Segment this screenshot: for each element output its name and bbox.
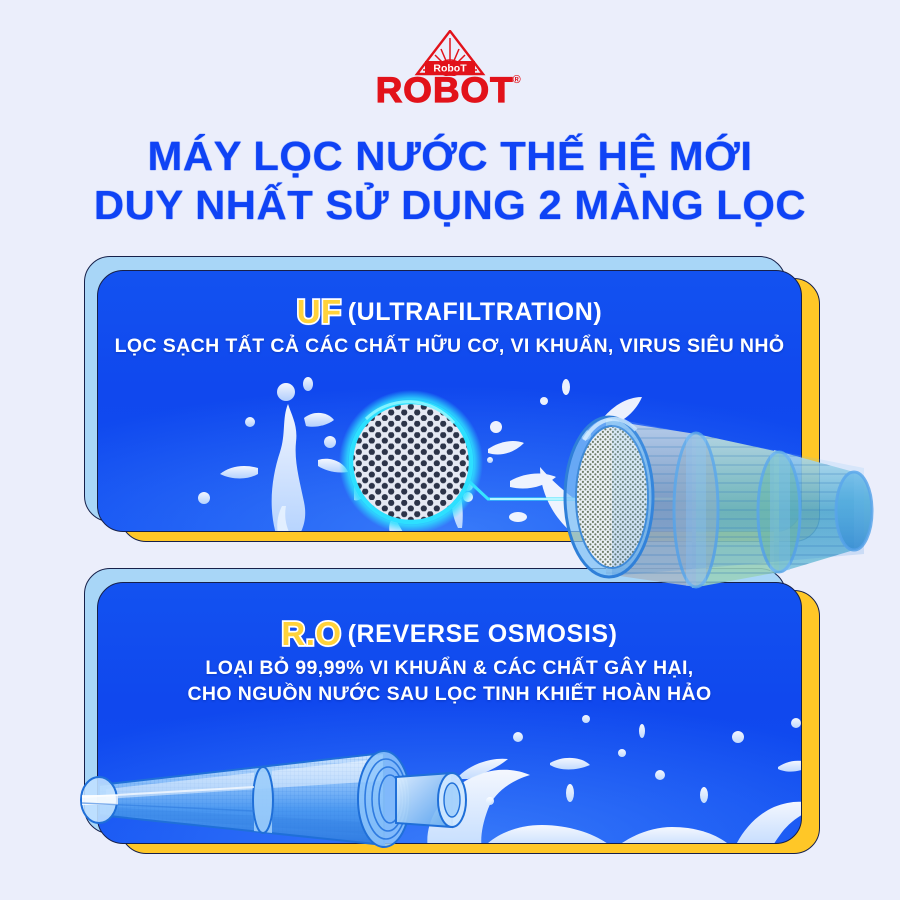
uf-tag-sub-label: (ULTRAFILTRATION) — [348, 298, 603, 326]
brand-wordmark: ROBOT ® — [379, 73, 521, 108]
headline-line-1: MÁY LỌC NƯỚC THẾ HỆ MỚI — [0, 132, 900, 181]
uf-tag-label: UF — [297, 293, 342, 330]
uf-description-line-1: LỌC SẠCH TẤT CẢ CÁC CHẤT HỮU CƠ, VI KHUẨ… — [98, 333, 801, 359]
uf-membrane-honeycomb-closeup-icon — [336, 387, 486, 531]
ro-tag-sub-label: (REVERSE OSMOSIS) — [348, 620, 618, 648]
ro-tag-label: R.O — [281, 615, 341, 652]
brand-wordmark-text: ROBOT — [376, 73, 514, 108]
registered-mark: ® — [513, 74, 521, 86]
ro-description-line-1: LOẠI BỎ 99,99% VI KHUẨN & CÁC CHẤT GÂY H… — [98, 655, 801, 681]
page-title: MÁY LỌC NƯỚC THẾ HỆ MỚI DUY NHẤT SỬ DỤNG… — [0, 132, 900, 230]
uf-card[interactable]: UF(ULTRAFILTRATION) LỌC SẠCH TẤT CẢ CÁC … — [84, 256, 824, 546]
uf-hollow-fiber-cartridge-icon — [524, 398, 900, 593]
robot-sunburst-logo-icon: RoboT — [413, 30, 487, 76]
poster-canvas: RoboT ROBOT ® MÁY LỌC NƯỚC THẾ HỆ MỚI DU… — [0, 0, 900, 900]
ro-description-line-2: CHO NGUỒN NƯỚC SAU LỌC TINH KHIẾT HOÀN H… — [98, 681, 801, 707]
uf-heading: UF(ULTRAFILTRATION) — [98, 293, 801, 331]
brand-logo: RoboT ROBOT ® — [0, 30, 900, 108]
ro-rolled-membrane-cartridge-icon — [54, 723, 534, 868]
ro-card[interactable]: R.O(REVERSE OSMOSIS) LOẠI BỎ 99,99% VI K… — [84, 568, 824, 868]
ro-heading: R.O(REVERSE OSMOSIS) — [98, 615, 801, 653]
headline-line-2: DUY NHẤT SỬ DỤNG 2 MÀNG LỌC — [0, 181, 900, 230]
